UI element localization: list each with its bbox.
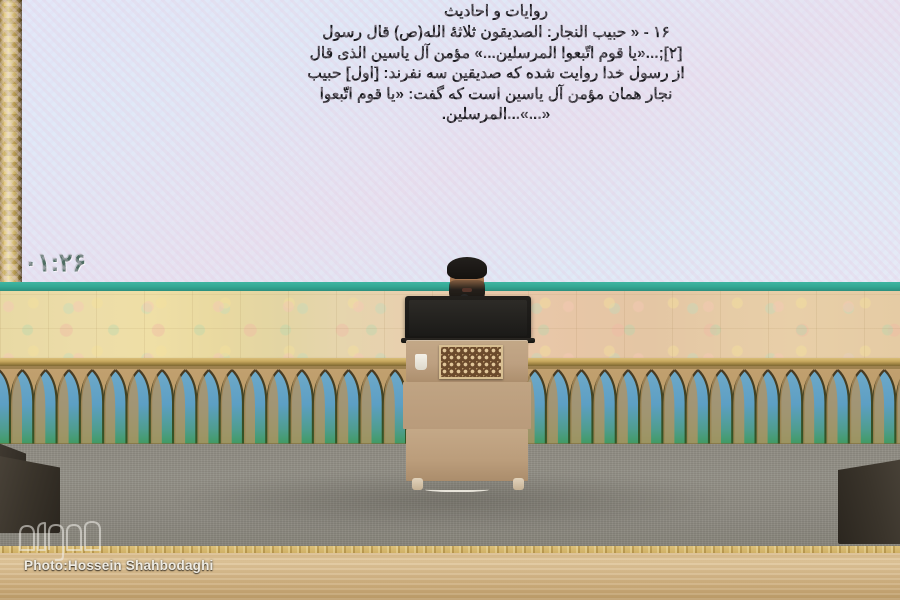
iqna-logo-watermark — [14, 516, 112, 562]
countdown-timer: ۰۱:۲۶ — [24, 248, 86, 278]
lectern-base — [406, 429, 528, 481]
lectern — [403, 340, 531, 492]
projection-screen: روایات و احادیث ۱۶ - « حبیب النجار: الصد… — [0, 0, 900, 285]
slide-line-4: از رسول خدا روایت شده که صدیقین سه نفرند… — [120, 64, 872, 84]
slide-text-block: روایات و احادیث ۱۶ - « حبیب النجار: الصد… — [120, 2, 872, 126]
slide-line-1: روایات و احادیث — [120, 2, 872, 22]
lectern-foot — [412, 478, 423, 490]
slide-line-5: نجار همان مؤمن آل یاسین است که گفت: «یا … — [120, 85, 872, 105]
lectern-foot — [513, 478, 524, 490]
photo-credit: Photo:Hossein Shahbodaghi — [24, 558, 214, 573]
presenter-mouth — [462, 288, 472, 292]
lectern-crest-panel — [439, 345, 503, 379]
slide-line-3: [۲];...«یا قوم اتّبعوا المرسلین...» مؤمن… — [120, 44, 872, 64]
water-cup — [415, 354, 427, 370]
lectern-middle — [403, 382, 531, 429]
slide-line-6: «...»...المرسلین. — [120, 105, 872, 125]
photo-scene: روایات و احادیث ۱۶ - « حبیب النجار: الصد… — [0, 0, 900, 600]
stage-monitor-speaker — [838, 458, 900, 544]
slide-line-2: ۱۶ - « حبیب النجار: الصدیقون ثلاثهٔ الله… — [120, 23, 872, 43]
gilded-column — [0, 0, 22, 285]
floor-cable — [425, 486, 489, 492]
presenter-hair — [447, 257, 487, 279]
lectern-monitor-screen — [405, 296, 531, 340]
